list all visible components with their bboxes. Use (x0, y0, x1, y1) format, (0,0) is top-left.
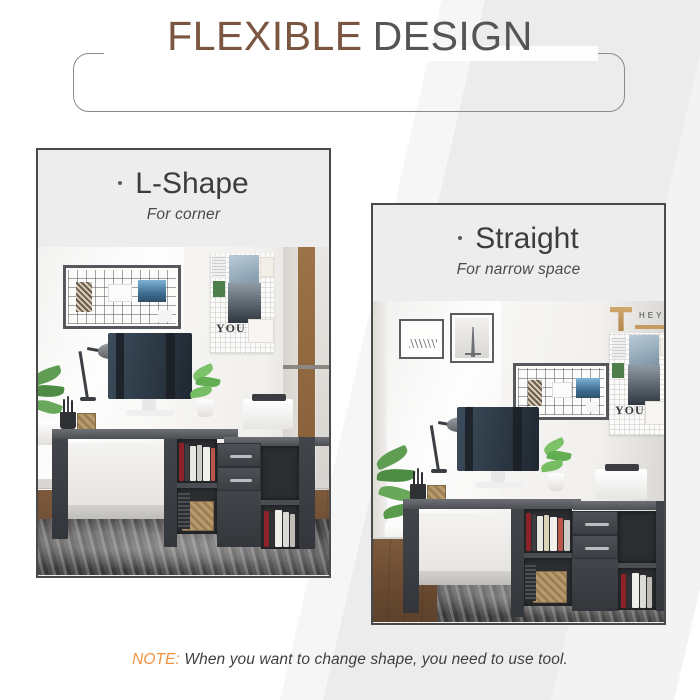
plant-pot (197, 399, 213, 417)
printer-body (595, 469, 647, 499)
book (544, 515, 549, 551)
cabinet-door (217, 491, 261, 547)
book (190, 446, 196, 481)
book (211, 448, 215, 481)
collage-green-card (612, 363, 624, 378)
plant-leaf (38, 383, 65, 398)
book (621, 574, 626, 608)
book (283, 512, 289, 547)
note-label: NOTE: (132, 651, 180, 668)
storage-basket (533, 571, 567, 603)
panel-l-shape-subtitle: For corner (38, 206, 329, 224)
memo-note (552, 382, 572, 398)
printer-lid (252, 394, 286, 401)
desk-right-outer-panel (299, 437, 315, 549)
cabinet-door (572, 559, 618, 611)
book (532, 514, 536, 551)
you-lettering: YOU (216, 321, 246, 336)
page-title: FLEXIBLEDESIGN (0, 16, 700, 57)
return-cubby-upper (261, 446, 299, 500)
title-frame (73, 53, 625, 112)
pen (413, 471, 415, 485)
book (627, 575, 631, 608)
drawer-handle-icon (585, 523, 609, 526)
pen-holder (60, 412, 76, 429)
desk-panel-shadow (419, 571, 511, 585)
pen (63, 399, 65, 413)
plant-leaf (189, 386, 212, 399)
panel-l-shape[interactable]: L-Shape For corner (36, 148, 331, 578)
monitor-screen-stripe (465, 407, 473, 471)
book (550, 517, 557, 551)
book (640, 575, 646, 608)
book (647, 577, 652, 608)
bullet-dot-icon (118, 181, 122, 185)
panel-l-shape-title: L-Shape (135, 167, 248, 200)
pen (67, 396, 69, 413)
desk-modesty-panel (419, 513, 511, 575)
panel-l-shape-title-row: L-Shape (38, 168, 329, 200)
printer-body (243, 399, 293, 429)
book (197, 445, 202, 481)
eiffel-tower-base (465, 353, 481, 355)
monitor-base (475, 482, 523, 488)
window-sill (283, 365, 329, 369)
book (558, 518, 563, 551)
panel-straight-header: Straight For narrow space (373, 205, 664, 301)
desk-center-divider (511, 509, 524, 617)
panel-straight-photo: HEY YOU (373, 301, 664, 622)
desk-top (52, 429, 238, 439)
panel-straight[interactable]: Straight For narrow space (371, 203, 666, 625)
monitor-base (126, 410, 174, 416)
panel-straight-title-row: Straight (373, 223, 664, 255)
wall-shelf (635, 325, 664, 329)
memo-photo-landscape (138, 280, 166, 302)
book (179, 443, 184, 481)
collage-card (660, 338, 664, 356)
plant-leaf (38, 365, 63, 387)
photo-collage-board: YOU (609, 333, 664, 435)
desk-left-leg (52, 439, 68, 539)
title-secondary-word: DESIGN (373, 13, 533, 59)
title-accent-word: FLEXIBLE (167, 13, 362, 59)
desk-top (403, 499, 581, 509)
book (632, 573, 639, 608)
drawer-top (217, 443, 261, 467)
book (185, 444, 189, 481)
book (275, 510, 282, 547)
plant-pot (548, 473, 564, 491)
drawer-bottom (217, 467, 261, 491)
monitor-screen-stripe (513, 407, 522, 471)
book (526, 513, 531, 551)
drawer-handle-icon (585, 547, 609, 550)
panel-straight-title: Straight (475, 222, 578, 255)
note-text: When you want to change shape, you need … (184, 651, 568, 668)
hey-sign: HEY (639, 311, 664, 321)
collage-card (260, 257, 274, 277)
collage-strip (612, 337, 626, 359)
collage-green-card (213, 281, 225, 297)
framed-art-birds (399, 319, 444, 359)
drawer-handle-icon (230, 479, 252, 482)
desk-center-divider (164, 439, 177, 547)
desk-modesty-panel (68, 443, 164, 509)
monitor-screen-stripe (116, 333, 124, 399)
book (537, 516, 543, 551)
book (564, 520, 570, 551)
desk-plant (539, 441, 575, 493)
collage-photo-c (248, 319, 274, 343)
magazine-rack (178, 493, 190, 529)
plant-leaf (540, 460, 563, 473)
memo-swatch (76, 282, 92, 312)
memo-swatch (528, 380, 542, 406)
panel-l-shape-header: L-Shape For corner (38, 150, 329, 247)
book (290, 514, 295, 547)
shelf-unit-top (573, 501, 664, 510)
book (203, 447, 210, 481)
book (270, 513, 274, 547)
panel-l-shape-photo: YOU (38, 247, 329, 575)
memo-photo-landscape (576, 378, 600, 398)
infographic-page: FLEXIBLEDESIGN L-Shape For corner (0, 0, 700, 700)
collage-photo-b (228, 283, 261, 323)
desk-left-leg (403, 509, 419, 613)
collage-photo-c (645, 401, 664, 425)
desk-panel-shadow (68, 505, 164, 519)
drawer-top (572, 511, 618, 535)
photo-collage-board: YOU (210, 253, 274, 353)
collage-photo-b (628, 365, 660, 405)
framed-art-eiffel-tower (450, 313, 494, 363)
end-cubby-upper (618, 511, 656, 563)
book (264, 511, 269, 547)
collage-strip (212, 256, 226, 278)
art-bird-marks (409, 339, 437, 348)
pen (417, 468, 419, 485)
drawer-handle-icon (230, 455, 252, 458)
printer-lid (605, 464, 639, 471)
panel-straight-subtitle: For narrow space (373, 261, 664, 279)
memo-note (108, 284, 132, 302)
monitor-screen-stripe (166, 333, 175, 399)
footer-note: NOTE: When you want to change shape, you… (0, 651, 700, 669)
memo-small-note (158, 310, 172, 322)
bullet-dot-icon (458, 236, 462, 240)
grid-memo-board (63, 265, 181, 329)
memo-small-note (586, 402, 598, 412)
you-lettering: YOU (615, 403, 645, 418)
magazine-rack (525, 563, 536, 601)
desk-right-outer-panel (656, 501, 664, 611)
plant-leaf (377, 468, 416, 484)
desk-plant (188, 367, 224, 419)
drawer-bottom (572, 535, 618, 559)
